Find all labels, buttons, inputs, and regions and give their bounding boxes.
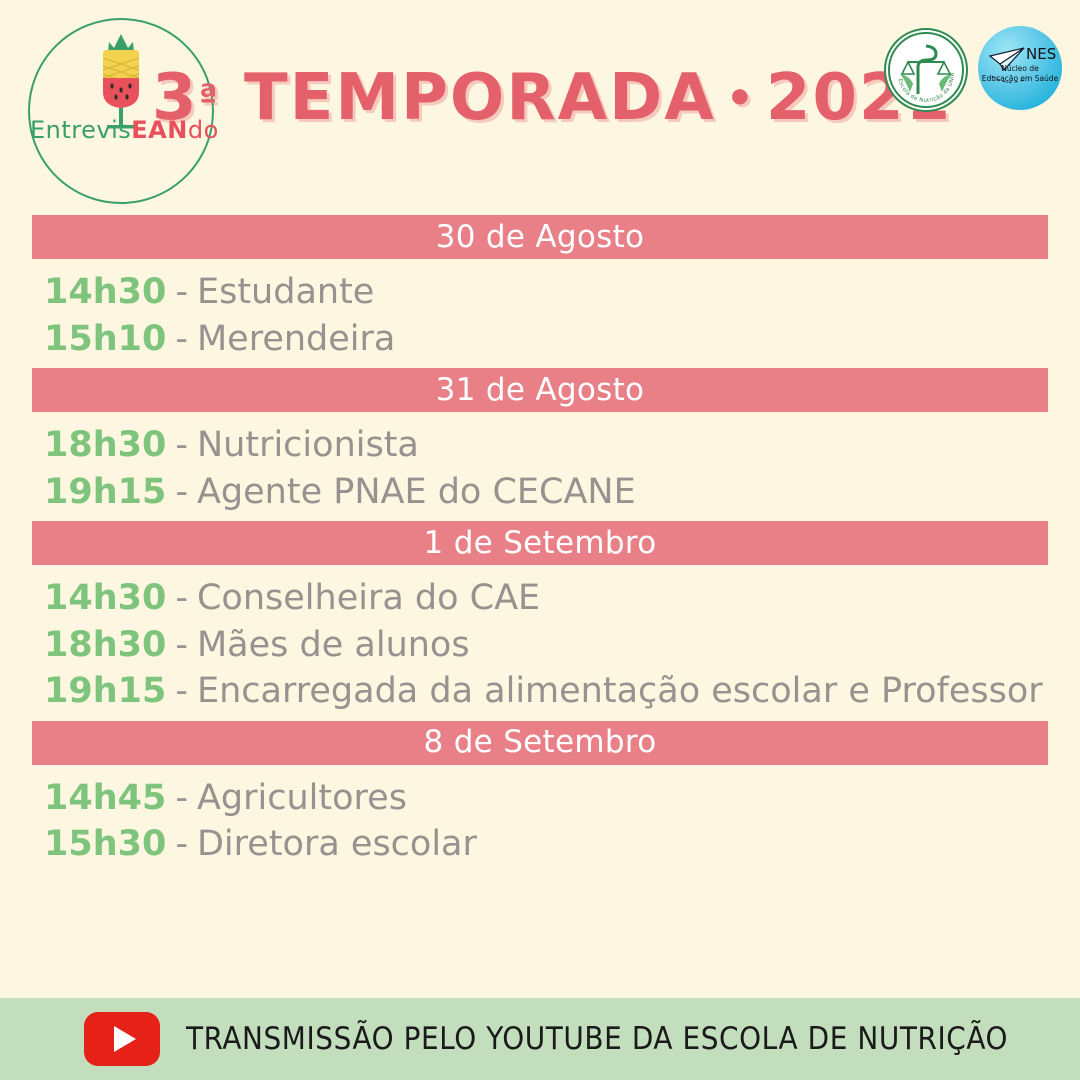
- session-guest: Encarregada da alimentação escolar e Pro…: [197, 668, 1043, 715]
- session-separator: -: [166, 668, 197, 715]
- session-time: 18h30: [44, 622, 166, 669]
- session-row: 19h15-Encarregada da alimentação escolar…: [44, 668, 1080, 715]
- session-list: 14h30-Conselheira do CAE18h30-Mães de al…: [0, 565, 1080, 721]
- session-separator: -: [166, 775, 197, 822]
- session-time: 18h30: [44, 422, 166, 469]
- session-time: 15h10: [44, 316, 166, 363]
- session-separator: -: [166, 269, 197, 316]
- session-guest: Mães de alunos: [197, 622, 470, 669]
- session-time: 14h30: [44, 575, 166, 622]
- broadcast-text: TRANSMISSÃO PELO YOUTUBE DA ESCOLA DE NU…: [186, 1021, 1008, 1057]
- session-guest: Estudante: [197, 269, 374, 316]
- day-band: 30 de Agosto: [32, 215, 1048, 259]
- session-row: 14h30-Conselheira do CAE: [44, 575, 1080, 622]
- broadcast-footer: TRANSMISSÃO PELO YOUTUBE DA ESCOLA DE NU…: [0, 998, 1080, 1080]
- season-ordinal: ª: [198, 78, 219, 118]
- schedule-list: 30 de Agosto14h30-Estudante15h10-Merende…: [0, 215, 1080, 874]
- session-guest: Agente PNAE do CECANE: [197, 469, 636, 516]
- day-block: 8 de Setembro14h45-Agricultores15h30-Dir…: [0, 721, 1080, 874]
- youtube-icon[interactable]: [84, 1012, 160, 1066]
- svg-text:Educação em Saúde: Educação em Saúde: [982, 74, 1059, 83]
- session-separator: -: [166, 316, 197, 363]
- svg-text:Núcleo de: Núcleo de: [1001, 64, 1039, 73]
- unirio-seal-icon: Escola de Nutrição da UNIRIO: [886, 30, 966, 110]
- session-row: 15h10-Merendeira: [44, 316, 1080, 363]
- session-separator: -: [166, 821, 197, 868]
- session-list: 14h45-Agricultores15h30-Diretora escolar: [0, 765, 1080, 874]
- svg-text:NES: NES: [1026, 45, 1056, 63]
- nes-logo: NES Núcleo de Educação em Saúde: [978, 26, 1062, 110]
- session-row: 14h30-Estudante: [44, 269, 1080, 316]
- day-date-label: 30 de Agosto: [436, 222, 645, 253]
- session-time: 19h15: [44, 469, 166, 516]
- session-guest: Merendeira: [197, 316, 395, 363]
- session-time: 19h15: [44, 668, 166, 715]
- season-separator: •: [716, 73, 766, 124]
- session-separator: -: [166, 575, 197, 622]
- session-guest: Agricultores: [197, 775, 407, 822]
- day-band: 8 de Setembro: [32, 721, 1048, 765]
- poster-canvas: EntrevisEANdo 3ª TEMPORADA•2021: [0, 0, 1080, 1080]
- session-row: 19h15-Agente PNAE do CECANE: [44, 469, 1080, 516]
- session-separator: -: [166, 422, 197, 469]
- session-guest: Nutricionista: [197, 422, 419, 469]
- session-time: 14h30: [44, 269, 166, 316]
- day-date-label: 1 de Setembro: [424, 528, 657, 559]
- session-guest: Conselheira do CAE: [197, 575, 540, 622]
- session-row: 18h30-Mães de alunos: [44, 622, 1080, 669]
- session-separator: -: [166, 622, 197, 669]
- season-number: 3: [152, 61, 199, 135]
- session-list: 14h30-Estudante15h10-Merendeira: [0, 259, 1080, 368]
- session-separator: -: [166, 469, 197, 516]
- day-band: 31 de Agosto: [32, 368, 1048, 412]
- session-row: 18h30-Nutricionista: [44, 422, 1080, 469]
- play-triangle-icon: [114, 1026, 136, 1052]
- day-date-label: 31 de Agosto: [436, 375, 645, 406]
- season-title: 3ª TEMPORADA•2021: [232, 52, 872, 144]
- session-list: 18h30-Nutricionista19h15-Agente PNAE do …: [0, 412, 1080, 521]
- day-band: 1 de Setembro: [32, 521, 1048, 565]
- session-guest: Diretora escolar: [197, 821, 477, 868]
- day-block: 31 de Agosto18h30-Nutricionista19h15-Age…: [0, 368, 1080, 521]
- nes-paper-plane-icon: NES Núcleo de Educação em Saúde: [978, 26, 1062, 110]
- brand-word-part1: Entrevis: [30, 116, 131, 144]
- session-time: 15h30: [44, 821, 166, 868]
- day-block: 1 de Setembro14h30-Conselheira do CAE18h…: [0, 521, 1080, 721]
- session-time: 14h45: [44, 775, 166, 822]
- day-block: 30 de Agosto14h30-Estudante15h10-Merende…: [0, 215, 1080, 368]
- escola-de-nutricao-unirio-logo: Escola de Nutrição da UNIRIO: [884, 28, 968, 112]
- day-date-label: 8 de Setembro: [424, 727, 657, 758]
- session-row: 14h45-Agricultores: [44, 775, 1080, 822]
- poster-header: EntrevisEANdo 3ª TEMPORADA•2021: [0, 0, 1080, 215]
- session-row: 15h30-Diretora escolar: [44, 821, 1080, 868]
- season-word: TEMPORADA: [244, 61, 716, 135]
